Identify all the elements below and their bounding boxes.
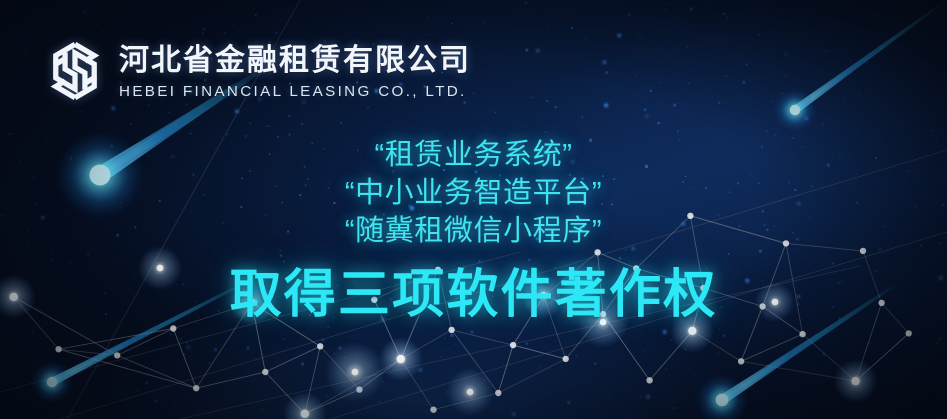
system-line-1: “租赁业务系统” bbox=[0, 136, 947, 174]
system-line-2: “中小业务智造平台” bbox=[0, 174, 947, 212]
promo-banner: 河北省金融租赁有限公司 HEBEI FINANCIAL LEASING CO.,… bbox=[0, 0, 947, 419]
headline-stack: “租赁业务系统” “中小业务智造平台” “随冀租微信小程序” 取得三项软件著作权 bbox=[0, 136, 947, 326]
hexagon-knot-logo-icon bbox=[44, 40, 106, 102]
company-name-cn: 河北省金融租赁有限公司 bbox=[119, 45, 471, 77]
brand-text: 河北省金融租赁有限公司 HEBEI FINANCIAL LEASING CO.,… bbox=[119, 43, 471, 100]
brand-logo-block: 河北省金融租赁有限公司 HEBEI FINANCIAL LEASING CO.,… bbox=[44, 40, 471, 102]
award-headline: 取得三项软件著作权 bbox=[0, 264, 947, 326]
company-name-en: HEBEI FINANCIAL LEASING CO., LTD. bbox=[119, 84, 471, 99]
system-line-3: “随冀租微信小程序” bbox=[0, 212, 947, 250]
